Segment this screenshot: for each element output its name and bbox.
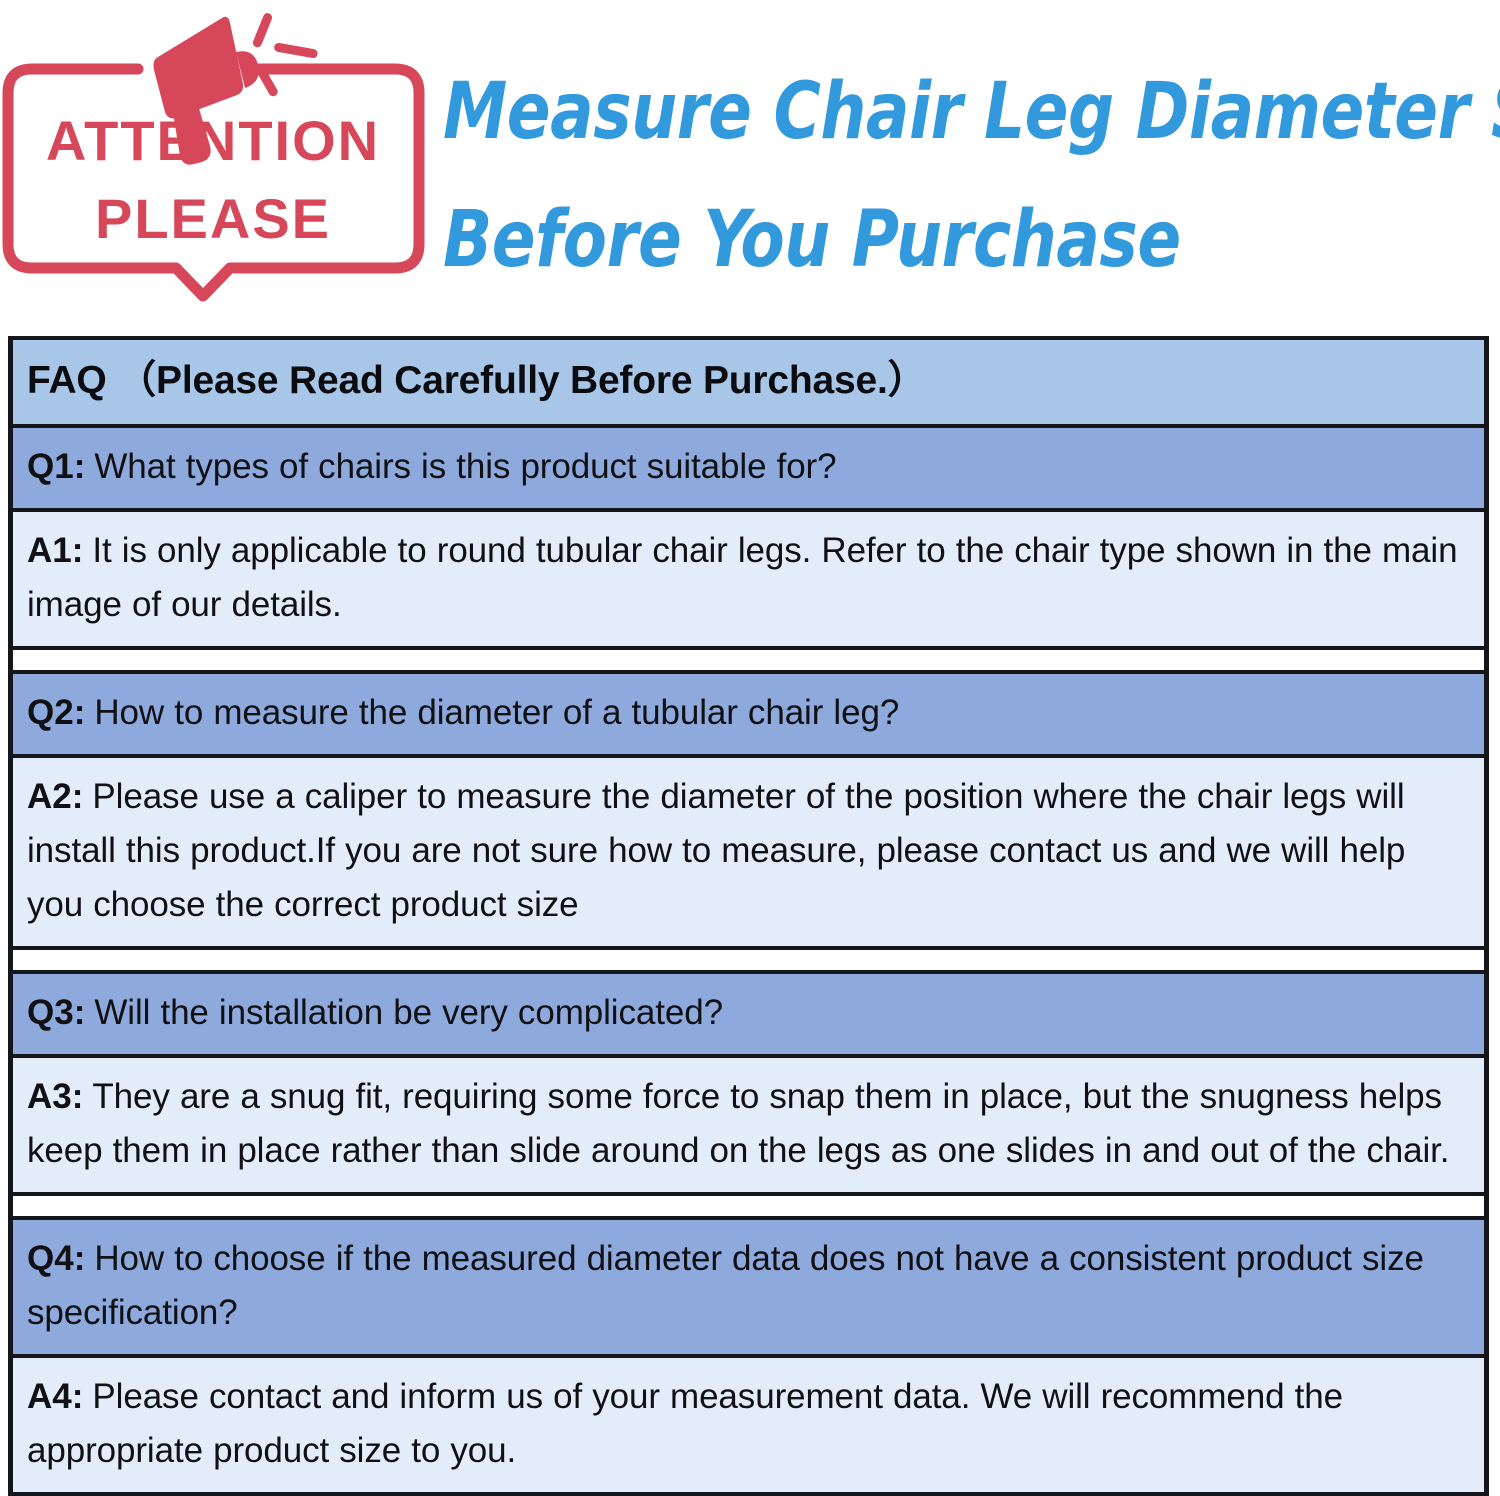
faq-answer-text: Please contact and inform us of your mea… bbox=[27, 1377, 1343, 1470]
faq-answer-label: A3: bbox=[27, 1077, 83, 1116]
faq-separator-row bbox=[13, 650, 1484, 674]
faq-question-row: Q4:How to choose if the measured diamete… bbox=[13, 1220, 1484, 1358]
page-title-line-2: Before You Purchase bbox=[443, 176, 1409, 304]
faq-answer-text: They are a snug fit, requiring some forc… bbox=[27, 1077, 1449, 1170]
faq-question-row: Q3:Will the installation be very complic… bbox=[13, 974, 1484, 1058]
faq-answer-text: Please use a caliper to measure the diam… bbox=[27, 777, 1405, 924]
faq-question-text: Will the installation be very complicate… bbox=[94, 993, 723, 1032]
faq-separator-row bbox=[13, 950, 1484, 974]
page-title-line-1: Measure Chair Leg Diameter Size bbox=[443, 48, 1409, 176]
faq-question-label: Q4: bbox=[27, 1239, 85, 1278]
badge-line-1: ATTENTION bbox=[46, 109, 380, 172]
faq-answer-text: It is only applicable to round tubular c… bbox=[27, 531, 1457, 624]
page-title: Measure Chair Leg Diameter Size Before Y… bbox=[443, 48, 1493, 304]
badge-line-2: PLEASE bbox=[95, 187, 331, 250]
faq-question-label: Q1: bbox=[27, 447, 85, 486]
faq-question-row: Q2:How to measure the diameter of a tubu… bbox=[13, 674, 1484, 758]
attention-please-badge: ATTENTION PLEASE bbox=[0, 0, 430, 310]
faq-answer-row: A2:Please use a caliper to measure the d… bbox=[13, 758, 1484, 950]
faq-answer-row: A3:They are a snug fit, requiring some f… bbox=[13, 1058, 1484, 1196]
faq-question-text: How to measure the diameter of a tubular… bbox=[94, 693, 899, 732]
faq-answer-label: A1: bbox=[27, 531, 83, 570]
faq-question-row: Q1:What types of chairs is this product … bbox=[13, 428, 1484, 512]
faq-question-label: Q2: bbox=[27, 693, 85, 732]
faq-table: FAQ （Please Read Carefully Before Purcha… bbox=[8, 336, 1489, 1496]
faq-question-text: What types of chairs is this product sui… bbox=[94, 447, 836, 486]
header-banner: ATTENTION PLEASE Measure Chair Leg Diame… bbox=[0, 0, 1500, 330]
faq-header-text: FAQ （Please Read Carefully Before Purcha… bbox=[27, 356, 1470, 406]
faq-answer-label: A2: bbox=[27, 777, 83, 816]
faq-table-header-row: FAQ （Please Read Carefully Before Purcha… bbox=[13, 336, 1484, 428]
faq-answer-label: A4: bbox=[27, 1377, 83, 1416]
faq-separator-row bbox=[13, 1196, 1484, 1220]
faq-question-text: How to choose if the measured diameter d… bbox=[27, 1239, 1424, 1332]
faq-answer-row: A4:Please contact and inform us of your … bbox=[13, 1358, 1484, 1496]
faq-question-label: Q3: bbox=[27, 993, 85, 1032]
faq-answer-row: A1:It is only applicable to round tubula… bbox=[13, 512, 1484, 650]
